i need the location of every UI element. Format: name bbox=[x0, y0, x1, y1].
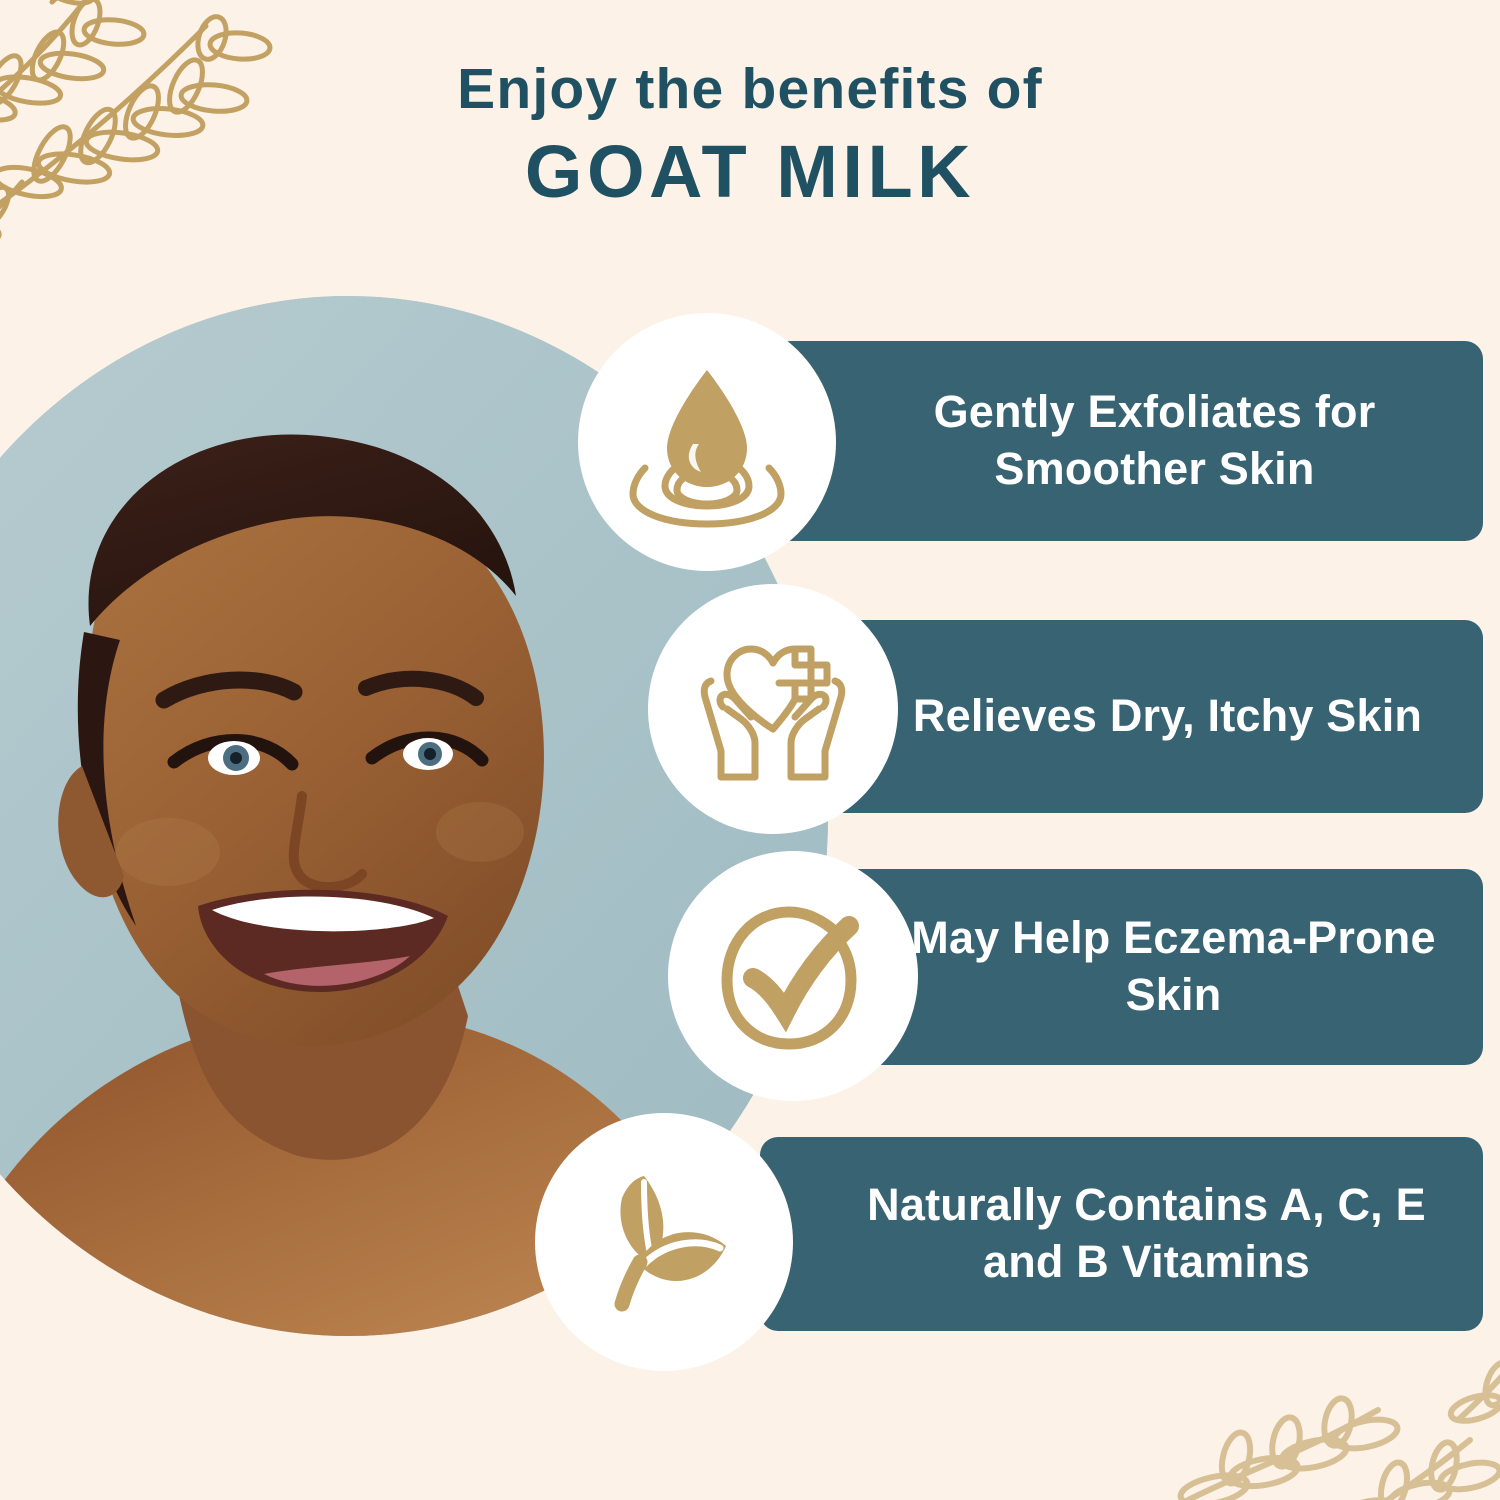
water-drop-ripple-icon bbox=[621, 356, 793, 528]
benefit-icon-badge-4 bbox=[535, 1113, 793, 1371]
benefit-label-4: Naturally Contains A, C, E and B Vitamin… bbox=[760, 1177, 1483, 1290]
check-circle-icon bbox=[709, 892, 877, 1060]
leaves-icon bbox=[582, 1160, 746, 1324]
benefit-box-1: Gently Exfoliates for Smoother Skin bbox=[772, 341, 1483, 541]
benefit-label-2: Relieves Dry, Itchy Skin bbox=[808, 688, 1483, 745]
heading-line-1: Enjoy the benefits of bbox=[0, 60, 1500, 120]
benefit-box-4: Naturally Contains A, C, E and B Vitamin… bbox=[760, 1137, 1483, 1331]
benefit-box-3: May Help Eczema-Prone Skin bbox=[828, 869, 1483, 1065]
page-title: Enjoy the benefits of GOAT MILK bbox=[0, 60, 1500, 218]
benefit-icon-badge-1 bbox=[578, 313, 836, 571]
benefit-label-3: May Help Eczema-Prone Skin bbox=[828, 910, 1483, 1023]
infographic-canvas: Enjoy the benefits of GOAT MILK bbox=[0, 0, 1500, 1500]
hands-holding-heart-cross-icon bbox=[689, 625, 857, 793]
benefit-icon-badge-3 bbox=[668, 851, 918, 1101]
benefit-icon-badge-2 bbox=[648, 584, 898, 834]
benefit-label-1: Gently Exfoliates for Smoother Skin bbox=[772, 384, 1483, 497]
benefit-box-2: Relieves Dry, Itchy Skin bbox=[808, 620, 1483, 813]
heading-line-2: GOAT MILK bbox=[0, 126, 1500, 219]
